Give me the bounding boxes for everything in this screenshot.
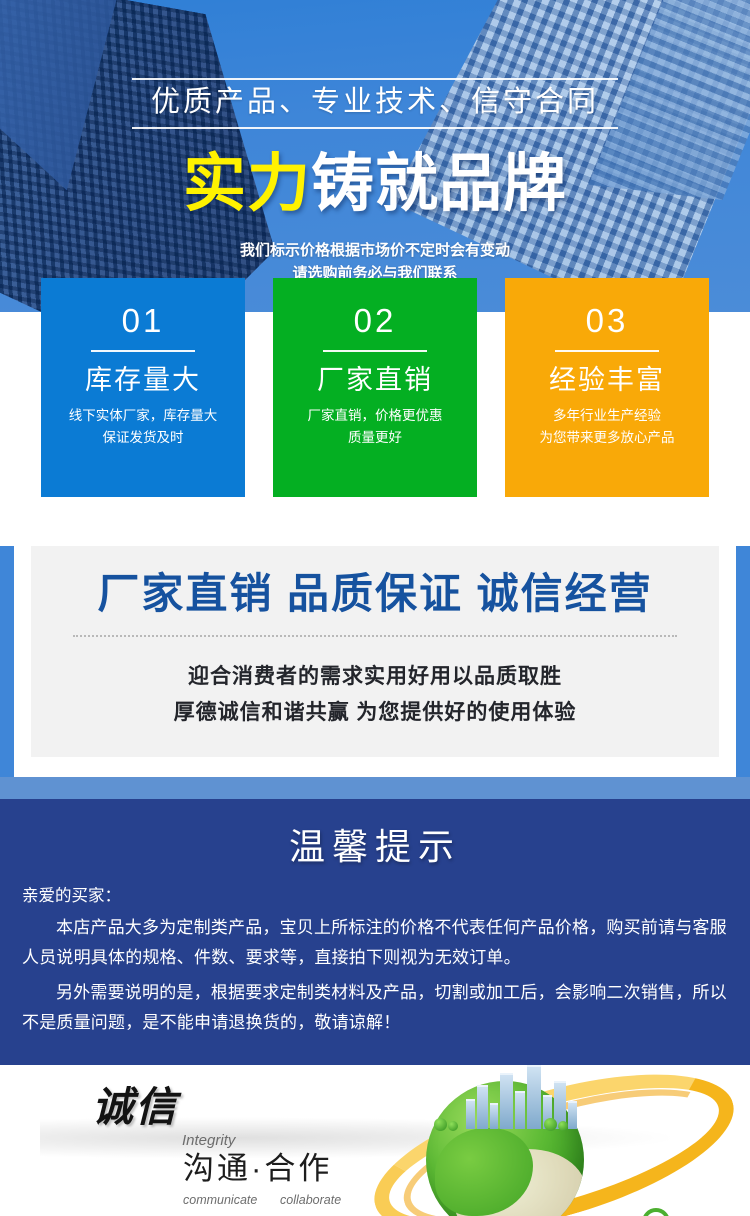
hero-note-line-1: 我们标示价格根据市场价不定时会有变动 bbox=[0, 239, 750, 262]
slogan-section: 厂家直销 品质保证 诚信经营 迎合消费者的需求实用好用以品质取胜 厚德诚信和谐共… bbox=[0, 546, 750, 777]
tips-title: 温馨提示 bbox=[22, 825, 728, 868]
card-description-line-2: 质量更好 bbox=[281, 427, 469, 449]
slogan-subtext-line-2: 厚德诚信和谐共赢 为您提供好的使用体验 bbox=[31, 695, 719, 731]
footer-integrity-block: 诚信 Integrity bbox=[92, 1087, 178, 1128]
hero-rule-bottom bbox=[132, 127, 618, 129]
card-description-line-1: 多年行业生产经验 bbox=[513, 405, 701, 427]
hero-title-rest: 铸就品牌 bbox=[311, 149, 567, 219]
card-number: 01 bbox=[41, 304, 245, 337]
card-description-line-1: 厂家直销，价格更优惠 bbox=[281, 405, 469, 427]
slogan-subtext: 迎合消费者的需求实用好用以品质取胜 厚德诚信和谐共赢 为您提供好的使用体验 bbox=[31, 659, 719, 731]
card-divider bbox=[323, 350, 427, 352]
feature-card-experience[interactable]: 03 经验丰富 多年行业生产经验 为您带来更多放心产品 bbox=[505, 278, 709, 497]
hero-banner: 优质产品、专业技术、信守合同 实力铸就品牌 我们标示价格根据市场价不定时会有变动… bbox=[0, 0, 750, 312]
card-heading: 厂家直销 bbox=[273, 364, 477, 396]
hero-title-highlight: 实力 bbox=[183, 149, 311, 219]
tips-paragraph-1: 本店产品大多为定制类产品，宝贝上所标注的价格不代表任何产品价格，购买前请与客服人… bbox=[22, 913, 728, 973]
tips-paragraph-2: 另外需要说明的是，根据要求定制类材料及产品，切割或加工后，会影响二次销售，所以不… bbox=[22, 978, 728, 1038]
globe-graphic bbox=[390, 1065, 750, 1216]
slogan-edge-left bbox=[0, 546, 14, 777]
slogan-dotted-divider bbox=[73, 635, 677, 637]
card-number: 02 bbox=[273, 304, 477, 337]
card-divider bbox=[555, 350, 659, 352]
hero-headline-block: 优质产品、专业技术、信守合同 bbox=[132, 78, 618, 129]
card-divider bbox=[91, 350, 195, 352]
tips-section: 温馨提示 亲爱的买家： 本店产品大多为定制类产品，宝贝上所标注的价格不代表任何产… bbox=[0, 799, 750, 1065]
footer-banner: 诚信 Integrity 沟通·合作 communicate collabora… bbox=[0, 1065, 750, 1216]
tips-greeting: 亲爱的买家： bbox=[22, 885, 728, 908]
card-heading: 经验丰富 bbox=[505, 364, 709, 396]
card-heading: 库存量大 bbox=[41, 364, 245, 396]
tree-cluster-decoration bbox=[432, 1101, 582, 1131]
ring-node-decoration bbox=[642, 1208, 670, 1216]
hero-title: 实力铸就品牌 bbox=[0, 151, 750, 217]
footer-communicate-en: communicate bbox=[183, 1193, 257, 1207]
footer-integrity-cn: 诚信 bbox=[92, 1087, 178, 1128]
card-description-line-1: 线下实体厂家，库存量大 bbox=[49, 405, 237, 427]
slogan-panel: 厂家直销 品质保证 诚信经营 迎合消费者的需求实用好用以品质取胜 厚德诚信和谐共… bbox=[31, 546, 719, 757]
feature-cards-section: 01 库存量大 线下实体厂家，库存量大 保证发货及时 02 厂家直销 厂家直销，… bbox=[0, 312, 750, 546]
feature-cards-row: 01 库存量大 线下实体厂家，库存量大 保证发货及时 02 厂家直销 厂家直销，… bbox=[0, 278, 750, 497]
card-number: 03 bbox=[505, 304, 709, 337]
promo-page: 优质产品、专业技术、信守合同 实力铸就品牌 我们标示价格根据市场价不定时会有变动… bbox=[0, 0, 750, 1216]
feature-card-factory-direct[interactable]: 02 厂家直销 厂家直销，价格更优惠 质量更好 bbox=[273, 278, 477, 497]
hero-content: 优质产品、专业技术、信守合同 实力铸就品牌 我们标示价格根据市场价不定时会有变动… bbox=[0, 0, 750, 285]
feature-card-stock[interactable]: 01 库存量大 线下实体厂家，库存量大 保证发货及时 bbox=[41, 278, 245, 497]
card-description: 厂家直销，价格更优惠 质量更好 bbox=[273, 405, 477, 449]
hero-headline: 优质产品、专业技术、信守合同 bbox=[132, 80, 618, 127]
card-description: 多年行业生产经验 为您带来更多放心产品 bbox=[505, 405, 709, 449]
footer-collaborate-en: collaborate bbox=[280, 1193, 341, 1207]
slogan-subtext-line-1: 迎合消费者的需求实用好用以品质取胜 bbox=[31, 659, 719, 695]
card-description: 线下实体厂家，库存量大 保证发货及时 bbox=[41, 405, 245, 449]
card-description-line-2: 为您带来更多放心产品 bbox=[513, 427, 701, 449]
slogan-headline: 厂家直销 品质保证 诚信经营 bbox=[31, 568, 719, 621]
footer-integrity-en: Integrity bbox=[182, 1132, 235, 1149]
tips-top-band bbox=[0, 777, 750, 799]
footer-collaborate-block: 沟通·合作 communicate collaborate bbox=[183, 1153, 373, 1209]
footer-collaborate-en-row: communicate collaborate bbox=[183, 1193, 373, 1209]
footer-collaborate-cn: 沟通·合作 bbox=[183, 1153, 373, 1184]
card-description-line-2: 保证发货及时 bbox=[49, 427, 237, 449]
slogan-edge-right bbox=[736, 546, 750, 777]
